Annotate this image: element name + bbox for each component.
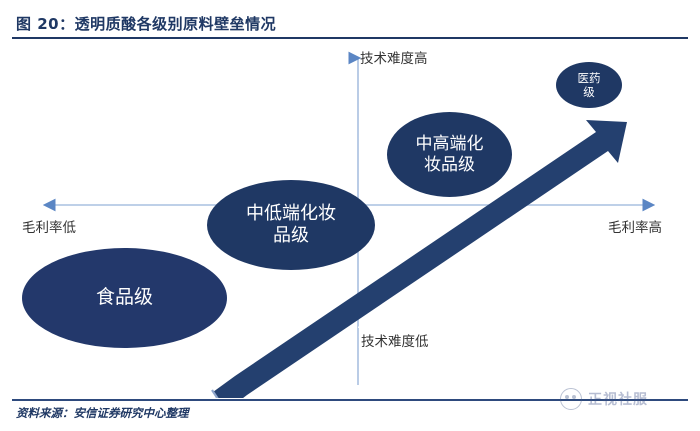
page-title: 图 20：透明质酸各级别原料壁垒情况 (16, 13, 276, 34)
axis-label-margin-low: 毛利率低 (22, 216, 76, 236)
bubble-mid-low-cosmetic-grade-label: 中低端化妆品级 (238, 203, 344, 247)
bubble-pharmaceutical-grade-label: 医药级 (570, 71, 609, 99)
axis-label-tech-high: 技术难度高 (360, 47, 428, 67)
title-divider (12, 37, 688, 39)
watermark: 正视社服 (560, 388, 648, 410)
bubble-mid-high-cosmetic-grade: 中高端化妆品级 (387, 112, 512, 197)
panda-circle-icon (560, 388, 582, 410)
source-note: 资料来源：安信证券研究中心整理 (16, 405, 189, 421)
bubble-mid-high-cosmetic-grade-label: 中高端化妆品级 (408, 134, 492, 175)
bubble-food-grade-label: 食品级 (88, 286, 161, 309)
bubble-mid-low-cosmetic-grade: 中低端化妆品级 (207, 180, 375, 270)
axis-label-margin-high: 毛利率高 (608, 216, 662, 236)
bubble-food-grade: 食品级 (22, 248, 227, 348)
watermark-label: 正视社服 (588, 389, 648, 409)
bubble-pharmaceutical-grade: 医药级 (556, 62, 622, 108)
axis-label-tech-low: 技术难度低 (361, 330, 429, 350)
figure-canvas: 图 20：透明质酸各级别原料壁垒情况 (0, 0, 700, 431)
